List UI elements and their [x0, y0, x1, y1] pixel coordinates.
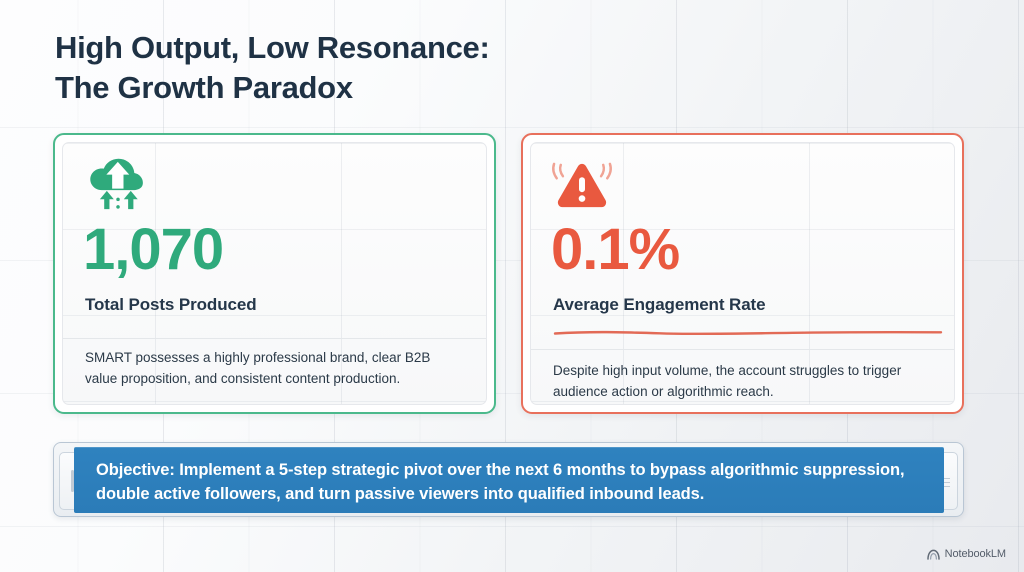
metric-card-total-posts: 1,070 Total Posts Produced SMART possess… [53, 133, 496, 414]
objective-banner-text: Objective: Implement a 5-step strategic … [96, 458, 922, 507]
slide-canvas: High Output, Low Resonance: The Growth P… [0, 0, 1024, 572]
page-title: High Output, Low Resonance: The Growth P… [55, 28, 695, 107]
page-title-line-1: High Output, Low Resonance: [55, 28, 695, 68]
objective-banner: Objective: Implement a 5-step strategic … [74, 447, 944, 513]
notebooklm-watermark: NotebookLM [927, 548, 1006, 560]
notebooklm-logo-icon [927, 549, 940, 560]
cloud-upload-icon [81, 155, 147, 217]
metric-card-engagement-rate: 0.1% Average Engagement Rate Despite hig… [521, 133, 964, 414]
metric-card-inner: 0.1% Average Engagement Rate Despite hig… [530, 142, 955, 405]
card-divider [531, 349, 954, 350]
metric-description: SMART possesses a highly professional br… [85, 348, 465, 389]
metric-card-inner: 1,070 Total Posts Produced SMART possess… [62, 142, 487, 405]
metric-value: 1,070 [83, 221, 223, 279]
metric-description: Despite high input volume, the account s… [553, 361, 933, 402]
card-divider [63, 338, 486, 339]
engagement-sparkline [553, 325, 943, 337]
metric-label: Total Posts Produced [85, 295, 257, 315]
metric-label: Average Engagement Rate [553, 295, 765, 315]
warning-alert-icon [549, 155, 615, 217]
notebooklm-watermark-label: NotebookLM [945, 548, 1006, 560]
metric-value: 0.1% [551, 221, 679, 279]
page-title-line-2: The Growth Paradox [55, 68, 695, 108]
